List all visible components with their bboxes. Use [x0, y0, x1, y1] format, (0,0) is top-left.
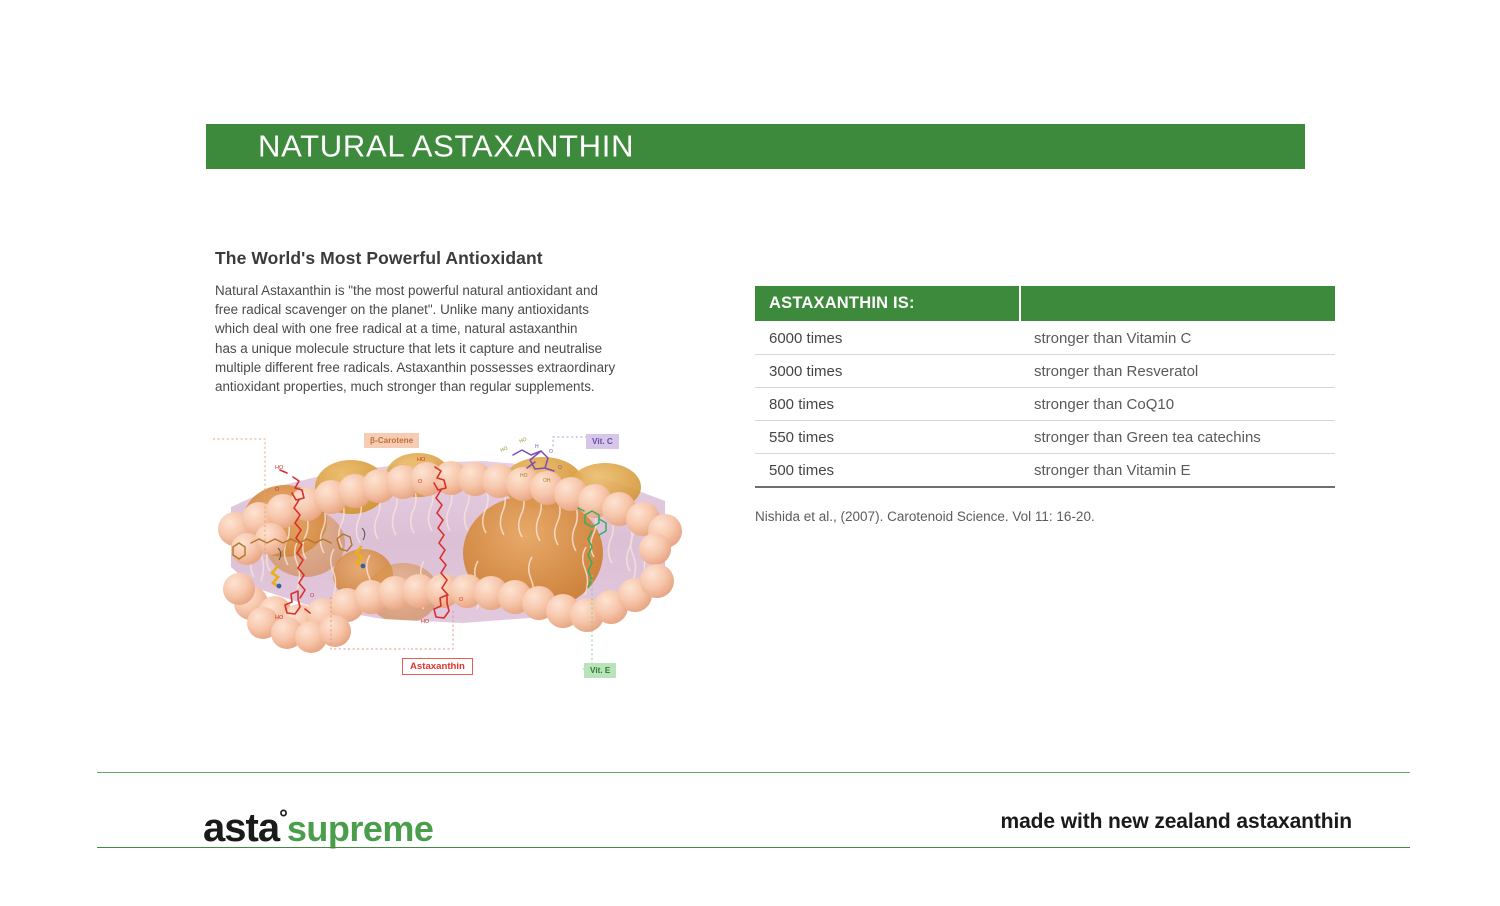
footer-rule-top [97, 772, 1410, 773]
brand-logo-supreme: supreme [287, 808, 434, 849]
cell-description: stronger than Vitamin E [1020, 454, 1335, 488]
svg-text:O: O [418, 479, 423, 485]
page-title: NATURAL ASTAXANTHIN [258, 128, 634, 164]
brand-logo: asta°supreme [203, 796, 433, 851]
svg-text:O: O [549, 449, 553, 455]
svg-text:O: O [459, 597, 464, 603]
cell-description: stronger than Green tea catechins [1020, 421, 1335, 454]
membrane-illustration-svg: HO O O HO HO O O HO HO HO H [213, 425, 683, 685]
svg-text:HO: HO [275, 465, 284, 471]
table-head: ASTAXANTHIN IS: [755, 286, 1335, 322]
svg-text:HO: HO [421, 619, 430, 625]
footer-tagline: made with new zealand astaxanthin [1001, 810, 1352, 834]
callout-label-vitamin-c: Vit. C [586, 434, 619, 449]
table-header-cell-title: ASTAXANTHIN IS: [755, 286, 1020, 322]
table-header-cell-blank [1020, 286, 1335, 322]
astaxanthin-comparison-table: ASTAXANTHIN IS: 6000 times stronger than… [755, 286, 1335, 488]
callout-label-vitamin-e: Vit. E [584, 663, 616, 678]
section-heading: The World's Most Powerful Antioxidant [215, 248, 685, 269]
svg-text:HO: HO [520, 473, 528, 479]
svg-text:HO: HO [519, 436, 528, 444]
svg-text:O: O [275, 487, 280, 493]
svg-text:H: H [535, 444, 539, 450]
table-row: 550 times stronger than Green tea catech… [755, 421, 1335, 454]
cell-times: 3000 times [755, 355, 1020, 388]
cell-description: stronger than CoQ10 [1020, 388, 1335, 421]
body-paragraph: Natural Astaxanthin is "the most powerfu… [215, 281, 685, 396]
page-header-banner: NATURAL ASTAXANTHIN [206, 124, 1305, 169]
cell-times: 550 times [755, 421, 1020, 454]
cell-description: stronger than Resveratol [1020, 355, 1335, 388]
table-row: 3000 times stronger than Resveratol [755, 355, 1335, 388]
cell-times: 6000 times [755, 322, 1020, 355]
cell-membrane-diagram: HO O O HO HO O O HO HO HO H [213, 425, 683, 685]
footer-rule-bottom [97, 847, 1410, 848]
table-row: 800 times stronger than CoQ10 [755, 388, 1335, 421]
svg-text:HO: HO [275, 615, 284, 621]
svg-text:O: O [558, 465, 562, 471]
table-row: 6000 times stronger than Vitamin C [755, 322, 1335, 355]
table-body: 6000 times stronger than Vitamin C 3000 … [755, 322, 1335, 488]
brand-logo-degree-icon: ° [279, 805, 287, 830]
brand-logo-asta: asta [203, 806, 279, 850]
svg-text:HO: HO [500, 445, 509, 453]
svg-text:OH: OH [543, 478, 551, 484]
table-row: 500 times stronger than Vitamin E [755, 454, 1335, 488]
callout-label-beta-carotene: β-Carotene [364, 433, 419, 448]
left-content-column: The World's Most Powerful Antioxidant Na… [215, 248, 685, 396]
cell-times: 500 times [755, 454, 1020, 488]
cell-description: stronger than Vitamin C [1020, 322, 1335, 355]
svg-text:O: O [310, 593, 315, 599]
citation-text: Nishida et al., (2007). Carotenoid Scien… [755, 509, 1095, 524]
cell-times: 800 times [755, 388, 1020, 421]
table-header-row: ASTAXANTHIN IS: [755, 286, 1335, 322]
svg-text:HO: HO [417, 457, 426, 463]
callout-label-astaxanthin: Astaxanthin [402, 658, 473, 675]
